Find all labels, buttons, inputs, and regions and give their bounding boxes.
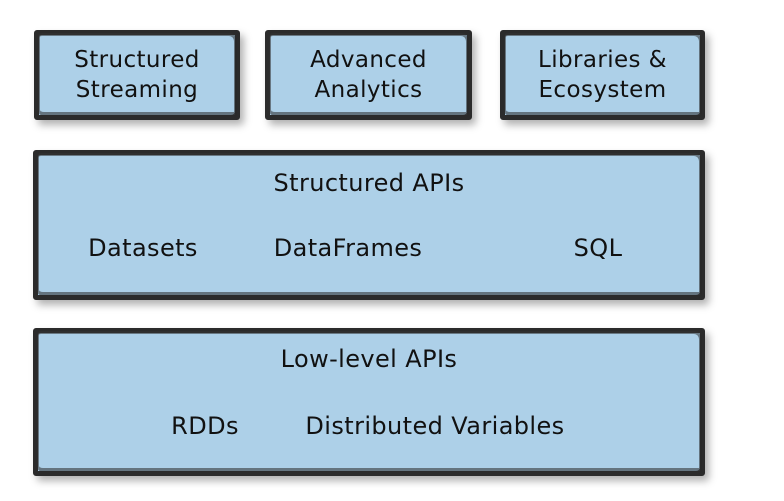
box-libraries-ecosystem[interactable]: Libraries & Ecosystem (500, 30, 705, 120)
item-sql[interactable]: SQL (574, 231, 623, 265)
diagram-canvas: Structured Streaming Advanced Analytics … (0, 0, 784, 501)
box-label-line1: Libraries & (538, 45, 667, 75)
box-label-line2: Streaming (76, 75, 198, 105)
box-structured-apis[interactable]: Structured APIs Datasets DataFrames SQL (33, 150, 705, 300)
layer-title-low-level-apis: Low-level APIs (38, 345, 700, 373)
box-label-line1: Structured (74, 45, 200, 75)
item-datasets[interactable]: Datasets (88, 231, 198, 265)
layer-items-structured-apis: Datasets DataFrames SQL (38, 231, 700, 265)
item-rdds[interactable]: RDDs (171, 409, 239, 443)
box-structured-streaming[interactable]: Structured Streaming (34, 30, 240, 120)
box-label-line2: Analytics (314, 75, 422, 105)
box-label-line1: Advanced (310, 45, 427, 75)
item-dataframes[interactable]: DataFrames (274, 231, 423, 265)
box-label-line2: Ecosystem (539, 75, 667, 105)
box-advanced-analytics[interactable]: Advanced Analytics (265, 30, 472, 120)
item-distributed-variables[interactable]: Distributed Variables (305, 409, 564, 443)
layer-items-low-level-apis: RDDs Distributed Variables (38, 409, 700, 443)
box-low-level-apis[interactable]: Low-level APIs RDDs Distributed Variable… (33, 328, 705, 476)
layer-title-structured-apis: Structured APIs (38, 169, 700, 197)
